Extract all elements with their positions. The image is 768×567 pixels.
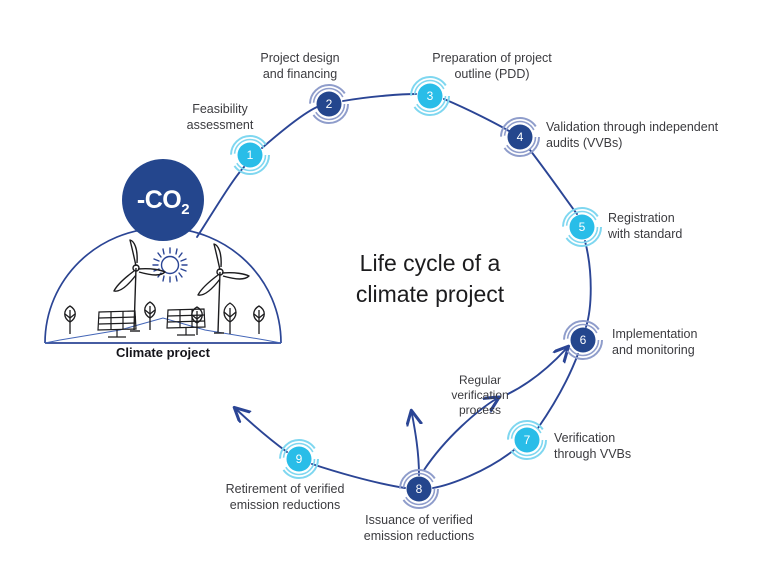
step-label-8: Issuance of verified emission reductions [309, 512, 529, 544]
step-number-1: 1 [230, 148, 270, 162]
step-label-1: Feasibility assessment [110, 101, 330, 133]
step-number-4: 4 [500, 130, 540, 144]
step-number-6: 6 [563, 333, 603, 347]
step-label-5: Registration with standard [608, 210, 768, 242]
step-label-3: Preparation of project outline (PDD) [382, 50, 602, 82]
step-label-7: Verification through VVBs [554, 430, 764, 462]
step-number-7: 7 [507, 433, 547, 447]
step-label-9: Retirement of verified emission reductio… [175, 481, 395, 513]
step-number-9: 9 [279, 452, 319, 466]
step-number-3: 3 [410, 89, 450, 103]
step-label-6: Implementation and monitoring [612, 326, 768, 358]
step-label-4: Validation through independent audits (V… [546, 119, 756, 151]
step-label-2: Project design and financing [190, 50, 410, 82]
step-label-overlay: 1Feasibility assessment2Project design a… [0, 0, 768, 567]
step-number-5: 5 [562, 220, 602, 234]
diagram-canvas: -CO2 Climate project Life cycle of a cli… [0, 0, 768, 567]
step-number-8: 8 [399, 482, 439, 496]
